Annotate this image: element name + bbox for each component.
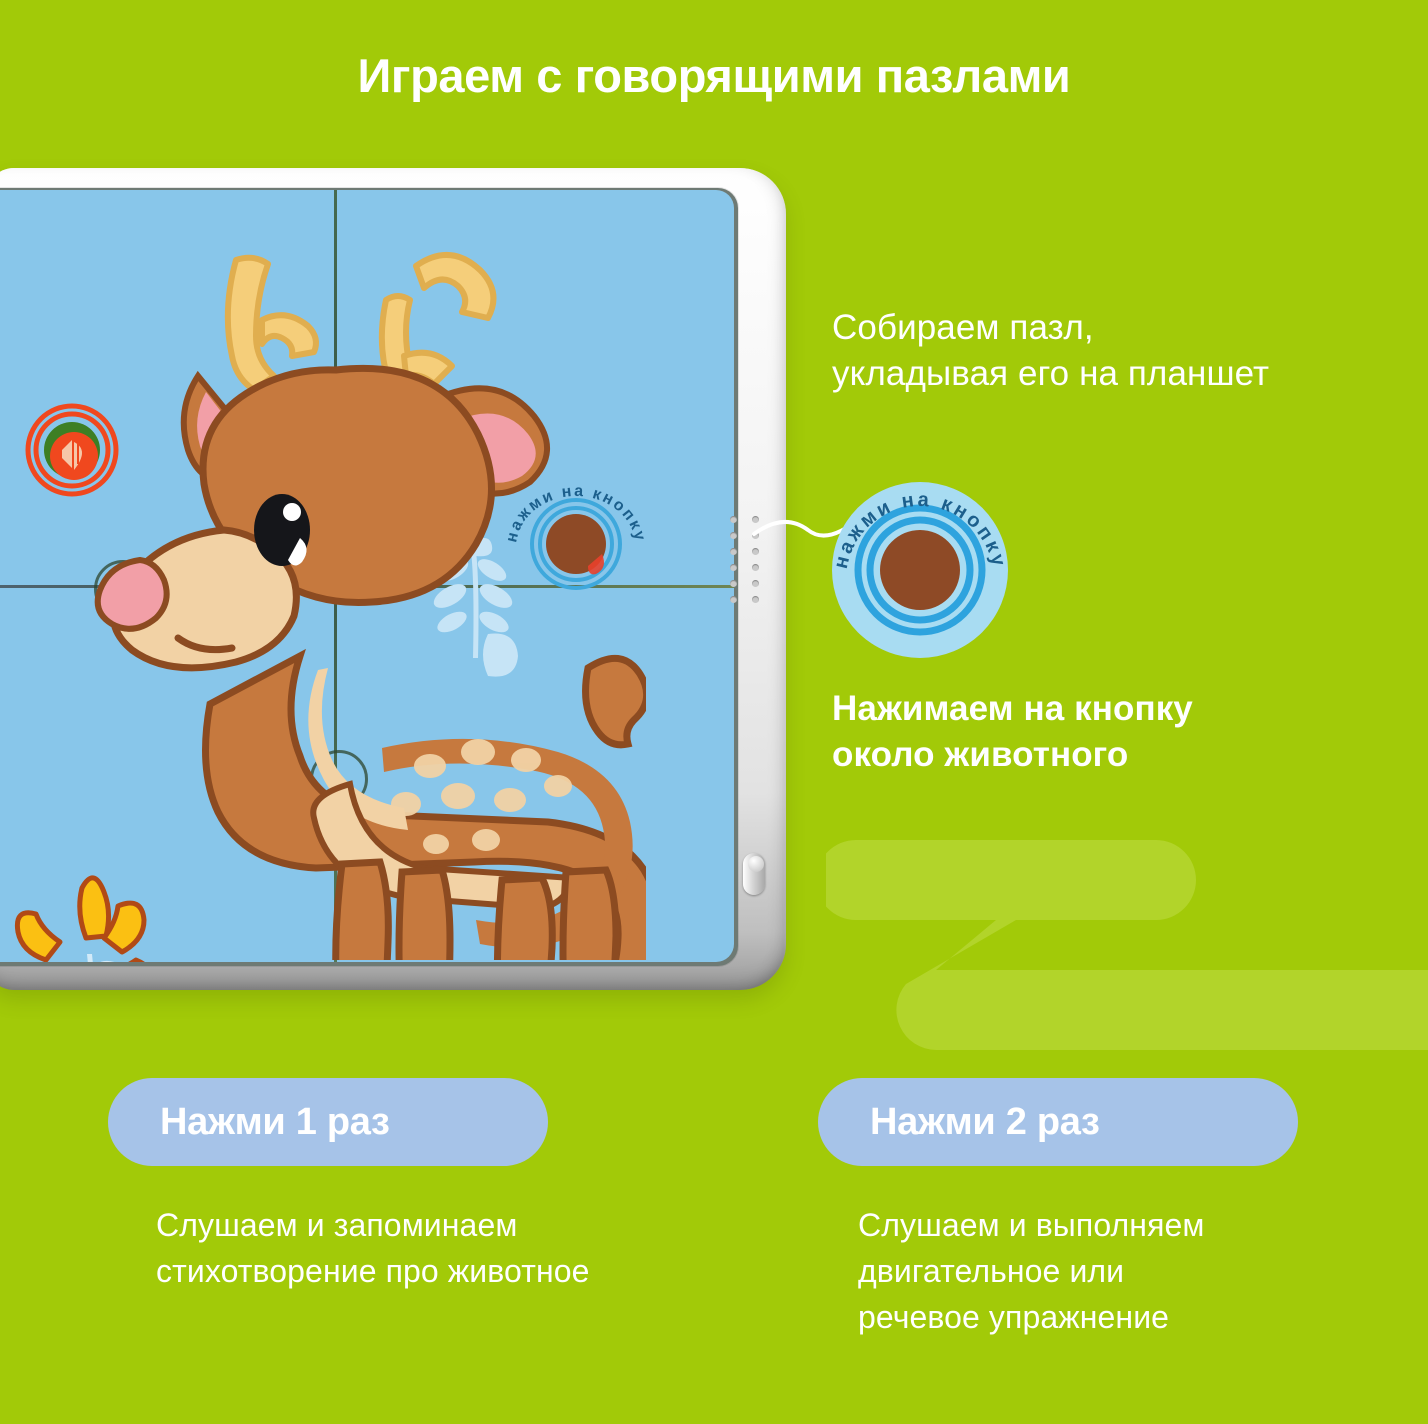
pill-press-twice-label: Нажми 2 раз: [818, 1101, 1100, 1144]
callout-press-button[interactable]: нажми на кнопку: [826, 472, 1014, 660]
step-press-text: Нажимаем на кнопку около животного: [832, 686, 1193, 778]
puzzle-board[interactable]: нажми на кнопку: [0, 190, 734, 962]
pill-press-twice[interactable]: Нажми 2 раз: [818, 1078, 1298, 1166]
caption-press-once: Слушаем и запоминаем стихотворение про ж…: [156, 1202, 796, 1294]
tablet-device[interactable]: нажми на кнопку: [0, 168, 786, 990]
step-collect-text: Собираем пазл, укладывая его на планшет: [832, 305, 1269, 397]
speaker-icon[interactable]: [24, 402, 120, 498]
infographic-root: Играем с говорящими пазлами: [0, 0, 1428, 1424]
watermark-z-icon: [826, 820, 1428, 1070]
power-switch[interactable]: [743, 853, 765, 895]
page-title: Играем с говорящими пазлами: [0, 48, 1428, 104]
pill-press-once[interactable]: Нажми 1 раз: [108, 1078, 548, 1166]
board-press-button[interactable]: нажми на кнопку: [502, 472, 650, 598]
flower-decoration-icon: [6, 862, 166, 962]
tablet-screen-bezel: нажми на кнопку: [0, 188, 738, 966]
pill-press-once-label: Нажми 1 раз: [108, 1101, 390, 1144]
caption-press-twice: Слушаем и выполняем двигательное или реч…: [858, 1202, 1378, 1340]
